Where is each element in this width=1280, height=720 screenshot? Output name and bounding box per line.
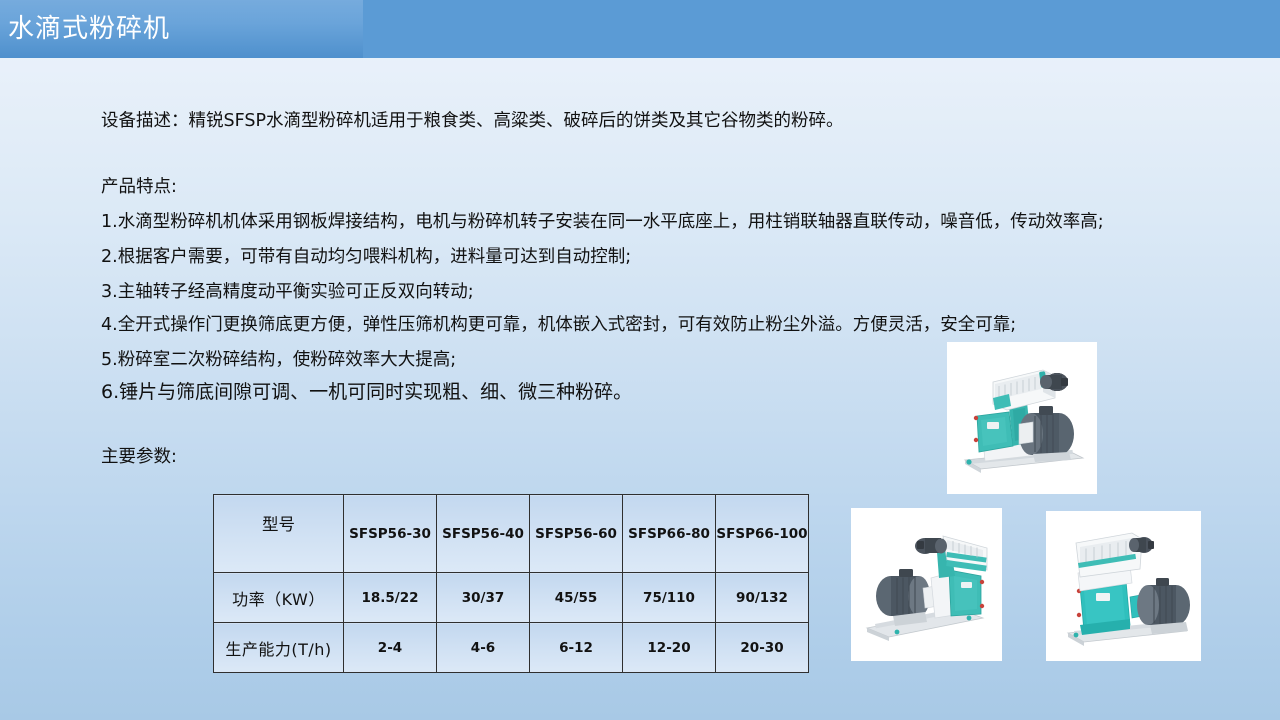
title-bar: 水滴式粉碎机 — [0, 0, 1280, 58]
table-cell: 90/132 — [716, 573, 809, 623]
equipment-description: 设备描述：精锐SFSP水滴型粉碎机适用于粮食类、高粱类、破碎后的饼类及其它谷物类… — [101, 110, 844, 132]
hammer-mill-photo-front — [1046, 511, 1201, 661]
table-header-cell: SFSP56-30 — [344, 495, 437, 573]
feature-item-4: 4.全开式操作门更换筛底更方便，弹性压筛机构更可靠，机体嵌入式密封，可有效防止粉… — [101, 314, 1016, 336]
table-header-model: 型号 — [214, 495, 344, 573]
table-header-cell: SFSP56-40 — [437, 495, 530, 573]
table-cell: 30/37 — [437, 573, 530, 623]
table-cell: 75/110 — [623, 573, 716, 623]
table-header-cell: SFSP56-60 — [530, 495, 623, 573]
table-row: 功率（KW） 18.5/22 30/37 45/55 75/110 90/132 — [214, 573, 809, 623]
table-header-cell: SFSP66-80 — [623, 495, 716, 573]
table-cell: 20-30 — [716, 623, 809, 673]
hammer-mill-photo-rear-right — [947, 342, 1097, 494]
table-cell: 2-4 — [344, 623, 437, 673]
title-bar-left-block: 水滴式粉碎机 — [0, 0, 363, 58]
parameters-heading: 主要参数: — [101, 446, 177, 468]
table-cell: 6-12 — [530, 623, 623, 673]
page-title: 水滴式粉碎机 — [8, 14, 170, 44]
table-cell: 18.5/22 — [344, 573, 437, 623]
feature-item-5: 5.粉碎室二次粉碎结构，使粉碎效率大大提高; — [101, 349, 456, 371]
row-label-capacity: 生产能力(T/h) — [214, 623, 344, 673]
specification-table: 型号 SFSP56-30 SFSP56-40 SFSP56-60 SFSP66-… — [213, 494, 809, 673]
table-cell: 45/55 — [530, 573, 623, 623]
feature-item-6: 6.锤片与筛底间隙可调、一机可同时实现粗、细、微三种粉碎。 — [101, 381, 632, 403]
table-cell: 12-20 — [623, 623, 716, 673]
table-header-cell: SFSP66-100 — [716, 495, 809, 573]
feature-item-2: 2.根据客户需要，可带有自动均匀喂料机构，进料量可达到自动控制; — [101, 246, 631, 268]
table-header-row: 型号 SFSP56-30 SFSP56-40 SFSP56-60 SFSP66-… — [214, 495, 809, 573]
row-label-power: 功率（KW） — [214, 573, 344, 623]
hammer-mill-photo-left-motor — [851, 508, 1002, 661]
title-bar-right-band — [362, 0, 1280, 58]
slide-canvas: 水滴式粉碎机 设备描述：精锐SFSP水滴型粉碎机适用于粮食类、高粱类、破碎后的饼… — [0, 0, 1280, 720]
table-row: 生产能力(T/h) 2-4 4-6 6-12 12-20 20-30 — [214, 623, 809, 673]
features-heading: 产品特点: — [101, 176, 177, 198]
table-cell: 4-6 — [437, 623, 530, 673]
feature-item-1: 1.水滴型粉碎机机体采用钢板焊接结构，电机与粉碎机转子安装在同一水平底座上，用柱… — [101, 211, 1104, 233]
feature-item-3: 3.主轴转子经高精度动平衡实验可正反双向转动; — [101, 281, 474, 303]
